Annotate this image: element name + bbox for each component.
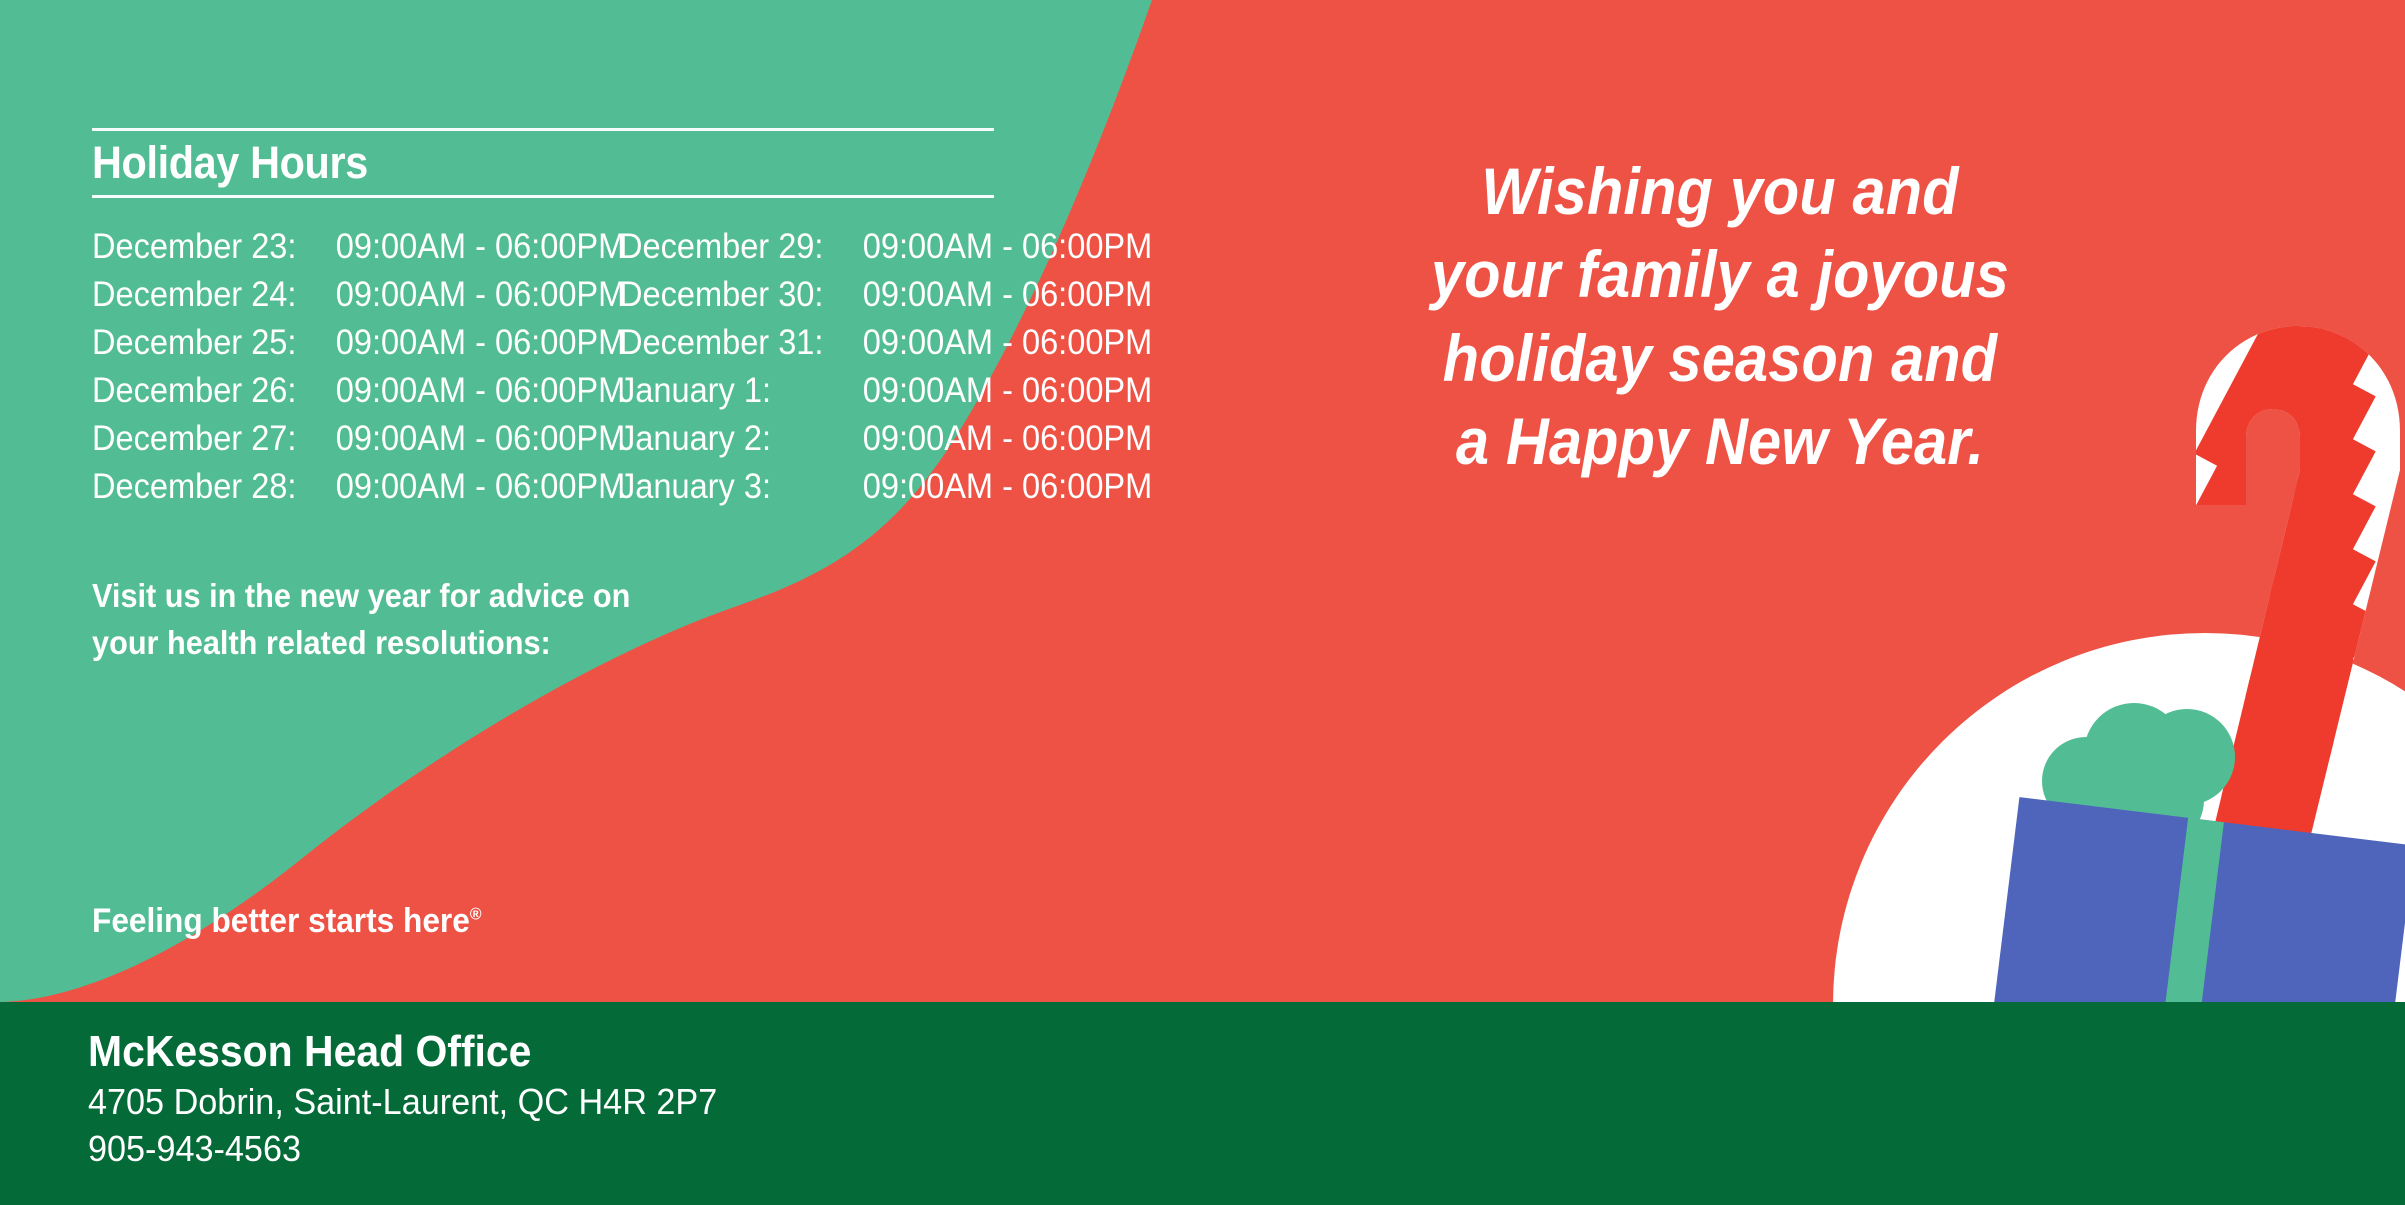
hours-row: December 30: 09:00AM - 06:00PM (619, 275, 1112, 322)
registered-mark-icon: ® (470, 905, 482, 924)
hours-rule-bottom (92, 195, 994, 198)
hours-day: December 25: (92, 323, 301, 363)
greeting-line: holiday season and (1351, 317, 2089, 400)
hours-column-1: December 23: 09:00AM - 06:00PM December … (92, 227, 585, 514)
hours-column-2: December 29: 09:00AM - 06:00PM December … (619, 227, 1112, 514)
hours-row: December 29: 09:00AM - 06:00PM (619, 227, 1112, 274)
hours-day: December 23: (92, 227, 301, 267)
hours-row: January 3: 09:00AM - 06:00PM (619, 467, 1112, 514)
brand-tagline: Feeling better starts here® (92, 902, 481, 941)
footer-address-block: McKesson Head Office 4705 Dobrin, Saint-… (88, 1026, 750, 1173)
hours-time: 09:00AM - 06:00PM (863, 371, 1112, 411)
street-address: 4705 Dobrin, Saint-Laurent, QC H4R 2P7 (88, 1078, 717, 1126)
holiday-hours-panel: Holiday Hours December 23: 09:00AM - 06:… (92, 128, 1102, 514)
hours-row: December 23: 09:00AM - 06:00PM (92, 227, 585, 274)
hours-day: December 24: (92, 275, 301, 315)
hours-day: January 1: (619, 371, 828, 411)
hours-grid: December 23: 09:00AM - 06:00PM December … (92, 227, 1102, 514)
hours-day: December 27: (92, 419, 301, 459)
greeting-message: Wishing you and your family a joyous hol… (1351, 150, 2089, 483)
hours-day: January 3: (619, 467, 828, 507)
footer-bar: McKesson Head Office 4705 Dobrin, Saint-… (0, 1002, 2405, 1205)
hours-time: 09:00AM - 06:00PM (336, 467, 585, 507)
hours-time: 09:00AM - 06:00PM (863, 227, 1112, 267)
hours-row: December 25: 09:00AM - 06:00PM (92, 323, 585, 370)
hours-title: Holiday Hours (92, 131, 1021, 195)
hours-time: 09:00AM - 06:00PM (336, 419, 585, 459)
hours-time: 09:00AM - 06:00PM (863, 323, 1112, 363)
hours-time: 09:00AM - 06:00PM (863, 419, 1112, 459)
greeting-line: Wishing you and (1351, 150, 2089, 233)
greeting-line: a Happy New Year. (1351, 400, 2089, 483)
hours-day: December 28: (92, 467, 301, 507)
hours-day: December 30: (619, 275, 828, 315)
visit-note: Visit us in the new year for advice on y… (92, 572, 630, 666)
hours-time: 09:00AM - 06:00PM (336, 275, 585, 315)
hours-row: January 1: 09:00AM - 06:00PM (619, 371, 1112, 418)
hours-time: 09:00AM - 06:00PM (863, 467, 1112, 507)
hours-day: December 29: (619, 227, 828, 267)
hours-row: December 27: 09:00AM - 06:00PM (92, 419, 585, 466)
hours-time: 09:00AM - 06:00PM (336, 323, 585, 363)
hours-time: 09:00AM - 06:00PM (336, 371, 585, 411)
hours-time: 09:00AM - 06:00PM (336, 227, 585, 267)
greeting-line: your family a joyous (1351, 233, 2089, 316)
hours-day: January 2: (619, 419, 828, 459)
hours-day: December 26: (92, 371, 301, 411)
tagline-text: Feeling better starts here (92, 902, 470, 940)
hours-row: December 26: 09:00AM - 06:00PM (92, 371, 585, 418)
hours-row: December 24: 09:00AM - 06:00PM (92, 275, 585, 322)
holiday-card: Holiday Hours December 23: 09:00AM - 06:… (0, 0, 2405, 1205)
phone-number: 905-943-4563 (88, 1125, 717, 1173)
hours-day: December 31: (619, 323, 828, 363)
hours-time: 09:00AM - 06:00PM (863, 275, 1112, 315)
hours-row: December 28: 09:00AM - 06:00PM (92, 467, 585, 514)
hours-row: January 2: 09:00AM - 06:00PM (619, 419, 1112, 466)
hours-row: December 31: 09:00AM - 06:00PM (619, 323, 1112, 370)
organization-name: McKesson Head Office (88, 1026, 704, 1078)
